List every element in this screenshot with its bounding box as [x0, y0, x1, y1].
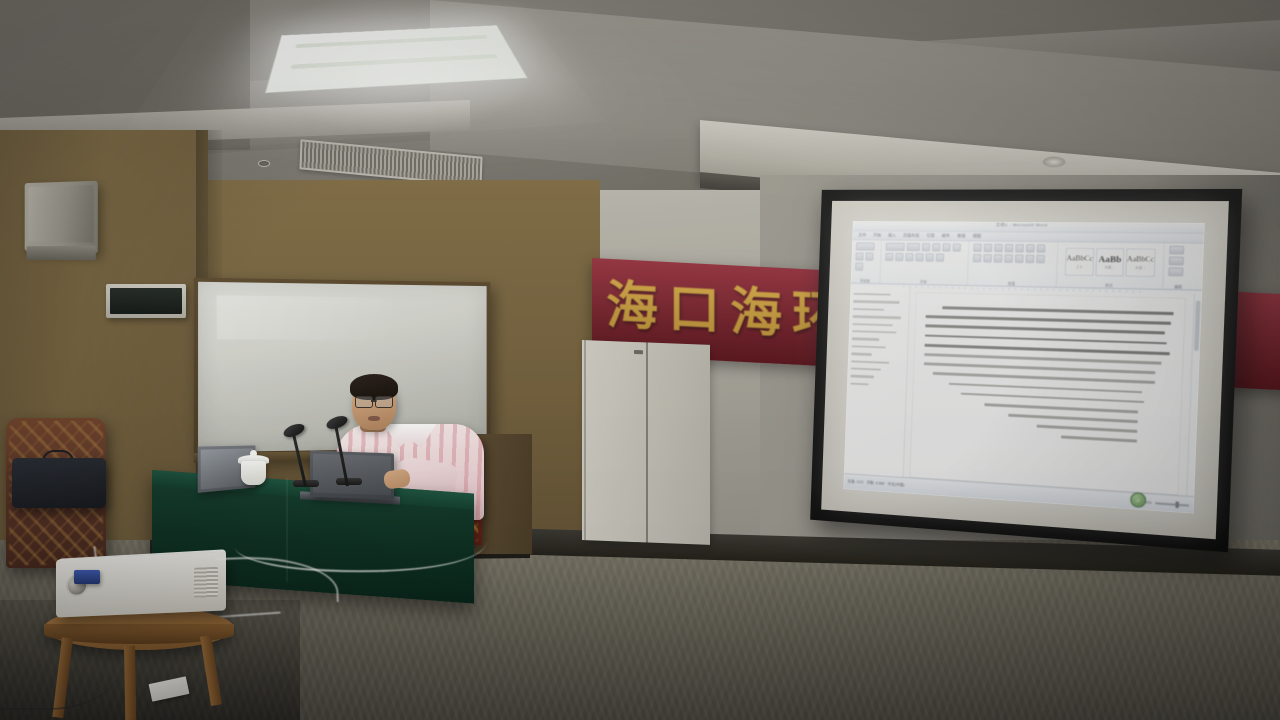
font-icons: [885, 243, 964, 262]
nav-entry[interactable]: [850, 375, 874, 378]
document-text-line: [924, 343, 1169, 354]
projector-vent-icon: [194, 567, 218, 598]
status-right-group: 110%: [1141, 500, 1189, 508]
document-text-line: [1008, 414, 1138, 424]
style-name: 标题 2: [1135, 265, 1145, 271]
tab-mailings[interactable]: 邮件: [942, 233, 950, 239]
style-name: 标题 1: [1105, 264, 1115, 270]
find-icon[interactable]: [1169, 246, 1184, 255]
line-spacing-icon[interactable]: [1015, 254, 1024, 263]
teacup-knob: [250, 450, 257, 457]
document-text-line: [949, 382, 1142, 393]
numbering-icon[interactable]: [984, 244, 993, 252]
nav-entry[interactable]: [851, 345, 886, 349]
font-color-icon[interactable]: [936, 253, 944, 261]
presenter-laptop[interactable]: [310, 451, 394, 500]
style-sample: AaBb: [1098, 254, 1121, 263]
copy-icon[interactable]: [865, 253, 873, 261]
align-center-icon[interactable]: [983, 254, 992, 262]
nav-entry[interactable]: [853, 300, 899, 304]
document-text-line: [933, 372, 1156, 384]
editing-icons: [1168, 246, 1190, 277]
tab-insert[interactable]: 插入: [888, 232, 896, 238]
laptop-bag: [12, 458, 106, 508]
status-page-number: 页面: 1/12: [847, 479, 863, 485]
door-edge: [584, 340, 586, 540]
replace-icon[interactable]: [1169, 256, 1184, 265]
sort-icon[interactable]: [1026, 244, 1035, 253]
scrollbar-thumb[interactable]: [1194, 301, 1201, 351]
grow-font-icon[interactable]: [922, 243, 930, 251]
downlight-icon: [1042, 156, 1066, 168]
nav-entry[interactable]: [850, 382, 869, 385]
style-sample: AaBbCc: [1066, 254, 1093, 263]
vga-connector-icon: [74, 570, 100, 584]
justify-icon[interactable]: [1004, 254, 1013, 262]
nav-entry[interactable]: [851, 352, 872, 355]
wall-panel-screen: [110, 288, 182, 314]
show-marks-icon[interactable]: [1037, 244, 1046, 253]
door-center-split: [646, 342, 648, 542]
projection-screen-surface: 文档1 - Microsoft Word 文件 开始 插入 页面布局 引用 邮件…: [843, 221, 1204, 513]
document-text-line: [925, 315, 1170, 325]
tab-review[interactable]: 审阅: [957, 233, 966, 239]
paragraph-icons: [973, 244, 1053, 264]
shrink-font-icon[interactable]: [932, 243, 940, 251]
document-page[interactable]: [910, 292, 1186, 495]
nav-entry[interactable]: [852, 330, 896, 334]
word-window-title: 文档1 - Microsoft Word: [996, 222, 1048, 229]
tab-references[interactable]: 引用: [926, 233, 934, 239]
status-language: 中文(中国): [887, 482, 904, 488]
door-handle-icon[interactable]: [634, 350, 643, 354]
word-document-area[interactable]: [844, 287, 1202, 496]
projection-screen-frame: 文档1 - Microsoft Word 文件 开始 插入 页面布局 引用 邮件…: [810, 189, 1242, 552]
presenter-mouth: [368, 416, 380, 421]
borders-icon[interactable]: [1036, 255, 1045, 264]
wall-speaker-icon: [25, 181, 98, 254]
glasses-right-lens: [375, 396, 393, 408]
wall-display-panel: [106, 284, 186, 318]
ribbon-group-label: 剪贴板: [851, 278, 880, 284]
tab-page-layout[interactable]: 页面布局: [903, 233, 919, 239]
underline-icon[interactable]: [885, 253, 893, 261]
nav-entry[interactable]: [851, 367, 881, 371]
teacup: [241, 461, 266, 485]
projection-screen: 文档1 - Microsoft Word 文件 开始 插入 页面布局 引用 邮件…: [810, 189, 1242, 552]
ribbon-group-label: 编辑: [1163, 284, 1193, 290]
cut-icon[interactable]: [855, 252, 863, 260]
document-text-line: [925, 325, 1165, 335]
document-text-line: [1037, 425, 1138, 433]
tab-view[interactable]: 视图: [973, 233, 982, 239]
bullets-icon[interactable]: [973, 244, 982, 252]
bold-icon[interactable]: [942, 243, 951, 251]
microphone-base: [336, 478, 362, 485]
strikethrough-icon[interactable]: [895, 253, 903, 261]
style-normal[interactable]: AaBbCc 正文: [1065, 248, 1095, 276]
document-text-line: [925, 334, 1168, 345]
text-highlight-icon[interactable]: [925, 253, 933, 261]
subscript-icon[interactable]: [905, 253, 913, 261]
tab-file[interactable]: 文件: [858, 232, 866, 238]
clipboard-icons: [855, 242, 877, 271]
downlight-icon: [258, 160, 270, 167]
document-text-line: [984, 403, 1139, 413]
projection-screen-mat: 文档1 - Microsoft Word 文件 开始 插入 页面布局 引用 邮件…: [821, 201, 1229, 539]
tab-home[interactable]: 开始: [873, 232, 881, 238]
align-right-icon[interactable]: [994, 254, 1003, 262]
glasses-left-lens: [355, 396, 373, 408]
nav-entry[interactable]: [853, 308, 885, 311]
style-sample: AaBbCc: [1127, 255, 1154, 264]
document-text-line: [942, 306, 1173, 315]
nav-entry[interactable]: [851, 360, 890, 364]
format-painter-icon[interactable]: [855, 263, 863, 271]
document-text-line: [960, 392, 1144, 403]
document-text-line: [1061, 436, 1137, 443]
styles-gallery[interactable]: AaBbCc 正文 AaBb 标题 1 AaBbCc: [1062, 244, 1160, 276]
multilevel-list-icon[interactable]: [994, 244, 1003, 252]
font-family-selector[interactable]: [886, 243, 905, 251]
style-heading-2[interactable]: AaBbCc 标题 2: [1125, 248, 1155, 276]
zoom-slider[interactable]: [1155, 502, 1189, 507]
style-heading-1[interactable]: AaBb 标题 1: [1096, 248, 1125, 276]
eyeglasses-icon: [355, 396, 393, 407]
increase-indent-icon[interactable]: [1015, 244, 1024, 252]
nav-entry[interactable]: [852, 338, 879, 341]
decrease-indent-icon[interactable]: [1005, 244, 1014, 252]
style-name: 正文: [1076, 264, 1083, 269]
word-application-window: 文档1 - Microsoft Word 文件 开始 插入 页面布局 引用 邮件…: [843, 221, 1204, 513]
navigation-pane[interactable]: [844, 287, 910, 477]
ribbon-group-font[interactable]: 字体: [880, 241, 969, 285]
wall-speaker-bracket: [27, 246, 96, 260]
nav-entry[interactable]: [853, 293, 891, 296]
superscript-icon[interactable]: [915, 253, 923, 261]
font-size-selector[interactable]: [907, 243, 920, 251]
italic-icon[interactable]: [952, 243, 961, 251]
stool-leg: [124, 646, 136, 720]
word-ribbon[interactable]: 剪贴板: [851, 240, 1204, 291]
projector: [56, 552, 226, 617]
conference-room-photo: 海口海环院环境 文档1 - Microsoft Word: [0, 0, 1280, 720]
nav-entry[interactable]: [852, 315, 901, 319]
status-left-group: 页面: 1/12 字数: 4,580 中文(中国): [847, 479, 904, 488]
ribbon-group-styles[interactable]: AaBbCc 正文 AaBb 标题 1 AaBbCc: [1057, 242, 1165, 289]
shading-icon[interactable]: [1025, 255, 1034, 264]
nav-entry[interactable]: [852, 323, 893, 327]
paste-icon[interactable]: [856, 242, 875, 250]
cabinet-doors[interactable]: [582, 340, 710, 545]
align-left-icon[interactable]: [973, 254, 982, 262]
ribbon-group-clipboard[interactable]: 剪贴板: [851, 240, 882, 283]
ribbon-group-editing[interactable]: 编辑: [1163, 243, 1194, 289]
ribbon-group-paragraph[interactable]: 段落: [968, 241, 1059, 286]
status-word-count: 字数: 4,580: [866, 481, 884, 487]
select-icon[interactable]: [1168, 267, 1183, 276]
